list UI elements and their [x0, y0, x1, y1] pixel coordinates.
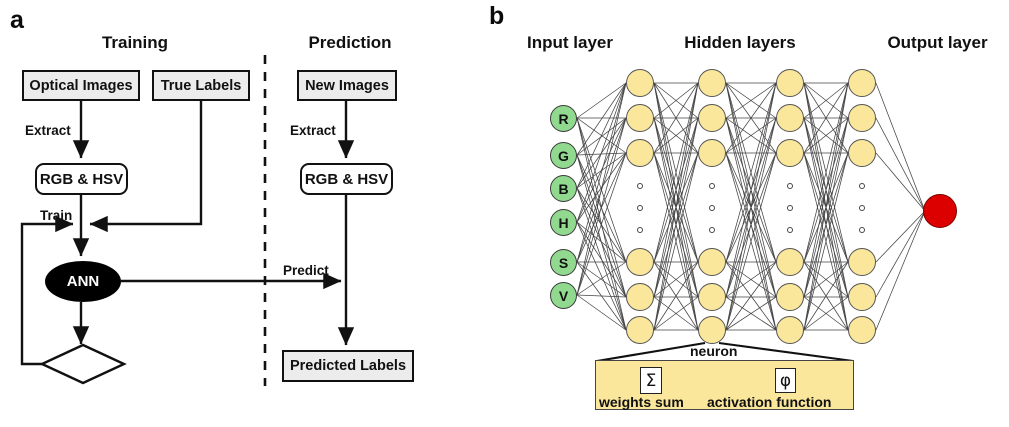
hidden-node — [776, 69, 804, 97]
hidden-layer-ellipsis-dot — [637, 227, 643, 233]
hidden-node — [848, 69, 876, 97]
hidden-node — [776, 283, 804, 311]
connector-overlay — [0, 0, 1009, 427]
weights-sum-symbol: Σ — [640, 367, 662, 394]
edge-label-extract-prediction: Extract — [290, 123, 336, 138]
hidden-layer-ellipsis-dot — [787, 227, 793, 233]
node-ann: ANN — [45, 261, 121, 302]
hidden-layer-ellipsis-dot — [859, 183, 865, 189]
figure-root: a b Training Prediction Optical Images T… — [0, 0, 1009, 427]
input-node-s: S — [550, 249, 577, 276]
layer-title-hidden: Hidden layers — [660, 33, 820, 53]
hidden-node — [626, 283, 654, 311]
hidden-layer-ellipsis-dot — [709, 227, 715, 233]
panel-a-letter: a — [10, 8, 24, 33]
hidden-node — [698, 248, 726, 276]
hidden-layer-ellipsis-dot — [787, 183, 793, 189]
input-node-r: R — [550, 105, 577, 132]
column-title-prediction: Prediction — [285, 33, 415, 53]
hidden-layer-ellipsis-dot — [859, 205, 865, 211]
input-node-h: H — [550, 209, 577, 236]
column-title-training: Training — [60, 33, 210, 53]
activation-function-symbol: φ — [775, 368, 796, 393]
hidden-layer-ellipsis-dot — [637, 205, 643, 211]
hidden-node — [626, 104, 654, 132]
layer-title-input: Input layer — [500, 33, 640, 53]
hidden-node — [848, 139, 876, 167]
node-rgb-hsv-prediction: RGB & HSV — [300, 163, 393, 195]
input-node-v: V — [550, 282, 577, 309]
hidden-node — [848, 316, 876, 344]
hidden-node — [776, 139, 804, 167]
edge-label-predict: Predict — [283, 263, 329, 278]
panel-b-letter: b — [489, 4, 504, 29]
input-node-b: B — [550, 175, 577, 202]
node-optical-images: Optical Images — [22, 70, 140, 101]
hidden-node — [626, 248, 654, 276]
hidden-layer-ellipsis-dot — [709, 205, 715, 211]
weights-sum-caption: weights sum — [599, 394, 684, 410]
hidden-node-neuron-callout — [698, 316, 726, 344]
output-node — [923, 194, 957, 228]
activation-function-caption: activation function — [707, 394, 831, 410]
hidden-layer-ellipsis-dot — [637, 183, 643, 189]
hidden-layer-ellipsis-dot — [709, 183, 715, 189]
layer-title-output: Output layer — [870, 33, 1005, 53]
hidden-node — [626, 139, 654, 167]
hidden-node — [848, 104, 876, 132]
hidden-node — [698, 104, 726, 132]
hidden-node — [848, 283, 876, 311]
node-predicted-labels: Predicted Labels — [282, 350, 414, 382]
node-rgb-hsv-training: RGB & HSV — [35, 163, 128, 195]
hidden-node — [698, 139, 726, 167]
hidden-node — [776, 104, 804, 132]
node-true-labels: True Labels — [152, 70, 250, 101]
edge-label-extract-training: Extract — [25, 123, 71, 138]
hidden-node — [626, 69, 654, 97]
edge-label-train: Train — [40, 208, 72, 223]
node-new-images: New Images — [297, 70, 397, 101]
hidden-node — [698, 69, 726, 97]
hidden-node — [698, 283, 726, 311]
hidden-node — [776, 316, 804, 344]
input-node-g: G — [550, 142, 577, 169]
hidden-node — [776, 248, 804, 276]
node-test-label: Test — [46, 356, 120, 372]
hidden-layer-ellipsis-dot — [787, 205, 793, 211]
hidden-layer-ellipsis-dot — [859, 227, 865, 233]
neuron-callout-title: neuron — [690, 343, 737, 359]
hidden-node — [848, 248, 876, 276]
hidden-node — [626, 316, 654, 344]
